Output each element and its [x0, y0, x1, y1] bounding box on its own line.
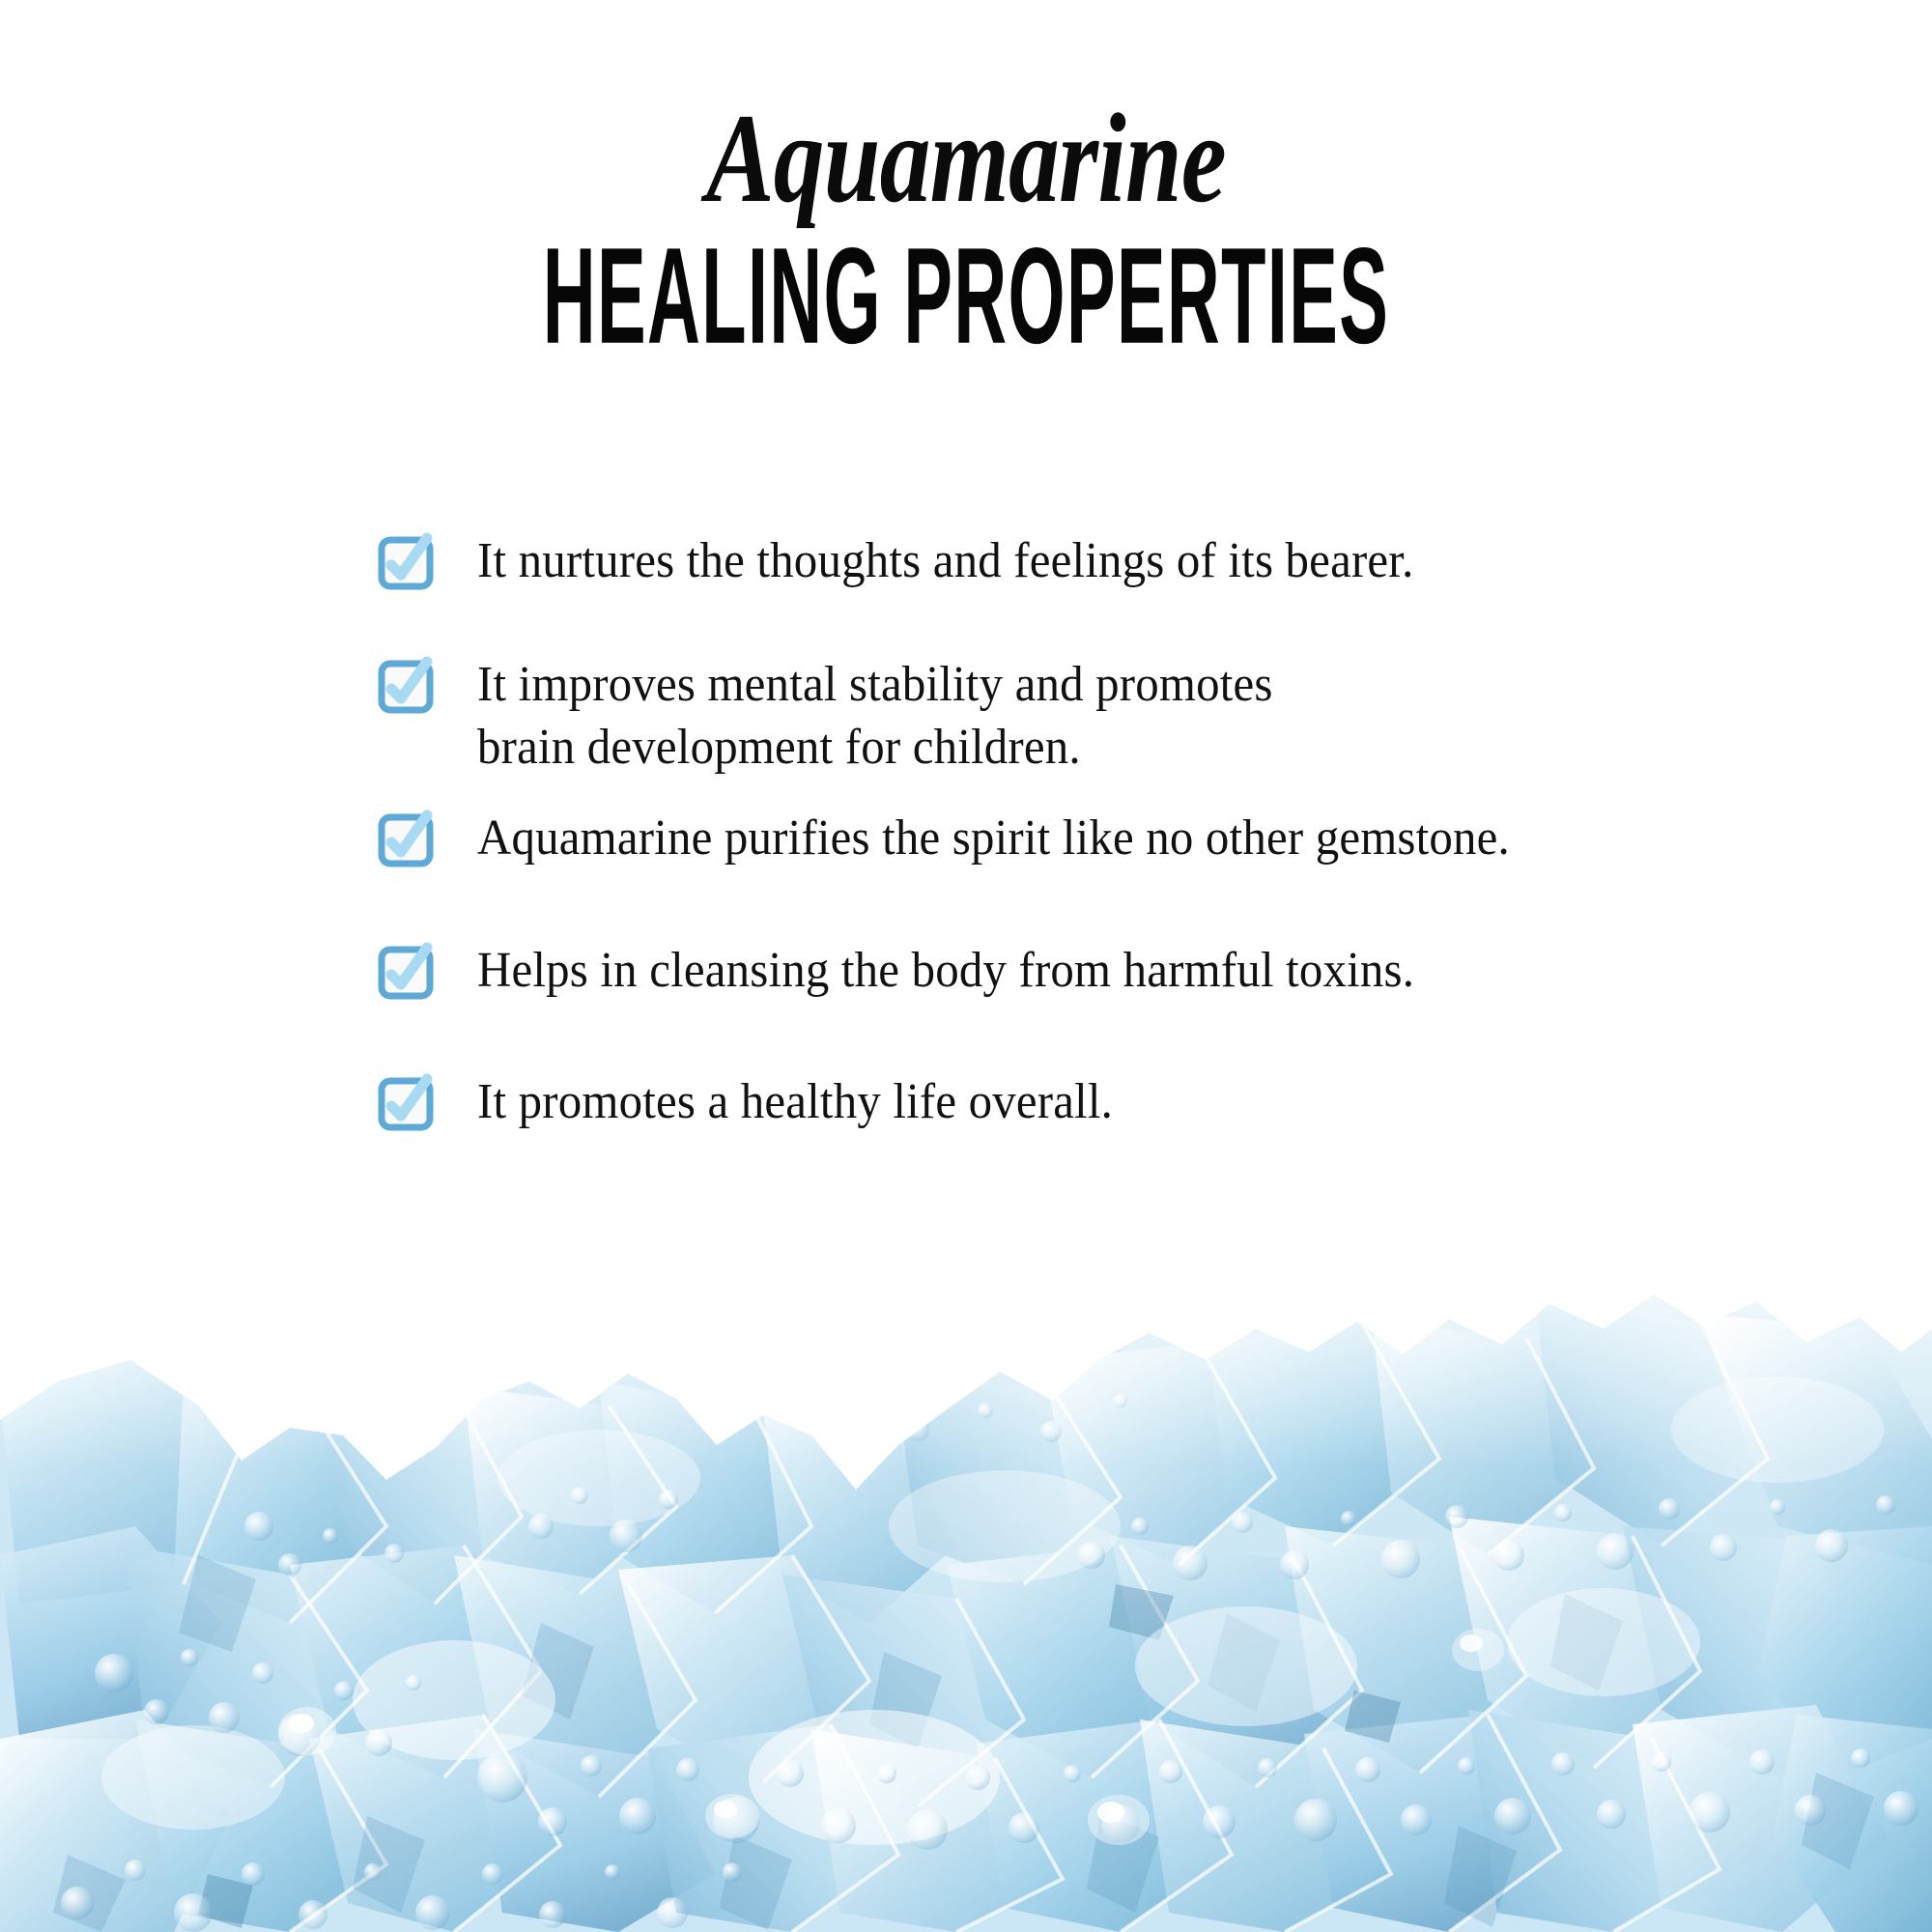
list-item: Helps in cleansing the body from harmful… — [379, 939, 1828, 1003]
page-subtitle: HEALING PROPERTIES — [333, 228, 1599, 365]
checked-checkbox-icon — [379, 812, 435, 868]
list-item-label: It nurtures the thoughts and feelings of… — [477, 529, 1747, 593]
list-item: It improves mental stability and promote… — [379, 653, 1828, 780]
ice-cubes-photo — [0, 1236, 1932, 1932]
list-item: It nurtures the thoughts and feelings of… — [379, 529, 1828, 593]
list-item-label: It improves mental stability and promote… — [477, 653, 1747, 780]
checked-checkbox-icon — [379, 659, 435, 715]
list-item-label: It promotes a healthy life overall. — [477, 1070, 1747, 1134]
poster-canvas: Aquamarine HEALING PROPERTIES It nurture… — [0, 0, 1932, 1932]
list-item: Aquamarine purifies the spirit like no o… — [379, 807, 1828, 870]
healing-properties-list: It nurtures the thoughts and feelings of… — [379, 529, 1828, 1133]
list-item-label: Aquamarine purifies the spirit like no o… — [477, 807, 1747, 870]
checked-checkbox-icon — [379, 1076, 435, 1132]
checked-checkbox-icon — [379, 945, 435, 1001]
page-title: Aquamarine — [193, 92, 1739, 224]
checked-checkbox-icon — [379, 535, 435, 591]
list-item-label: Helps in cleansing the body from harmful… — [477, 939, 1747, 1003]
heading-block: Aquamarine HEALING PROPERTIES — [0, 92, 1932, 352]
list-item: It promotes a healthy life overall. — [379, 1070, 1828, 1134]
